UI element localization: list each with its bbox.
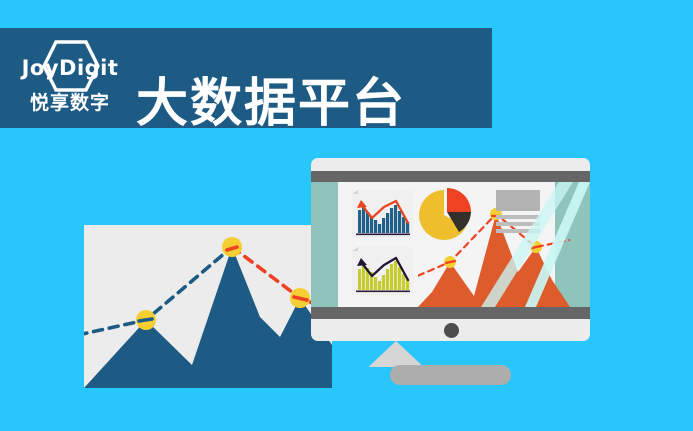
monitor-bottom-bar — [311, 307, 590, 319]
left-chart-panel — [84, 225, 332, 388]
pie-chart-icon — [418, 187, 473, 242]
mountain-area-chart — [84, 225, 332, 388]
monitor-top-bar — [311, 171, 590, 182]
power-button-icon[interactable] — [444, 323, 459, 338]
page-title: 大数据平台 — [136, 78, 406, 130]
monitor-frame — [311, 158, 590, 341]
text-placeholder-icon — [496, 190, 540, 233]
logo-subtext: 悦享数字 — [16, 88, 124, 115]
bar-chart-olive-icon — [352, 247, 413, 295]
monitor-stand-base — [390, 365, 511, 385]
poster-canvas: JoyDigit 悦享数字 大数据平台 — [0, 0, 693, 431]
card-pie-chart[interactable] — [418, 187, 473, 242]
card-bar-chart-olive[interactable] — [352, 247, 413, 295]
header-banner: JoyDigit 悦享数字 大数据平台 — [0, 28, 492, 128]
screen-edge-left — [311, 182, 338, 307]
bar-chart-blue-icon — [352, 190, 413, 238]
card-bar-chart-blue[interactable] — [352, 190, 413, 238]
node-dash-overlay — [139, 319, 152, 321]
monitor-stand-neck — [368, 341, 423, 367]
content-placeholder-block — [496, 190, 540, 233]
monitor-screen — [311, 182, 590, 307]
logo-wordmark: JoyDigit — [16, 56, 124, 80]
brand-logo: JoyDigit 悦享数字 — [16, 38, 124, 118]
